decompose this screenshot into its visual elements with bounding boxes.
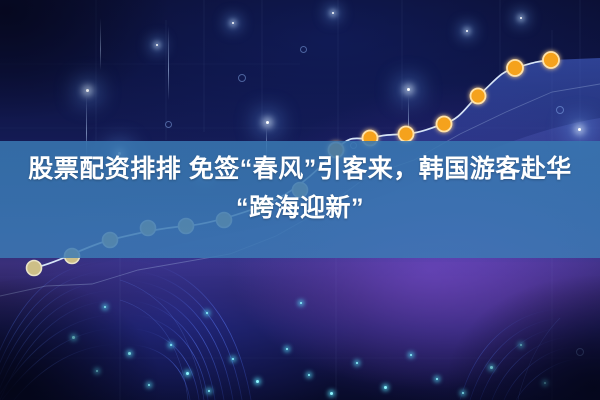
data-point-marker-icon (399, 127, 414, 142)
data-point-marker-icon (543, 52, 559, 68)
data-point-marker-icon (437, 117, 452, 132)
news-banner: 股票配资排排 免签“春风”引客来，韩国游客赴华 “跨海迎新” (0, 0, 600, 400)
page-title: 股票配资排排 免签“春风”引客来，韩国游客赴华 “跨海迎新” (0, 150, 600, 228)
title-line-2: “跨海迎新” (12, 189, 588, 228)
data-point-marker-icon (471, 89, 486, 104)
title-line-1: 股票配资排排 免签“春风”引客来，韩国游客赴华 (12, 150, 588, 189)
data-point-marker-icon (507, 60, 523, 76)
